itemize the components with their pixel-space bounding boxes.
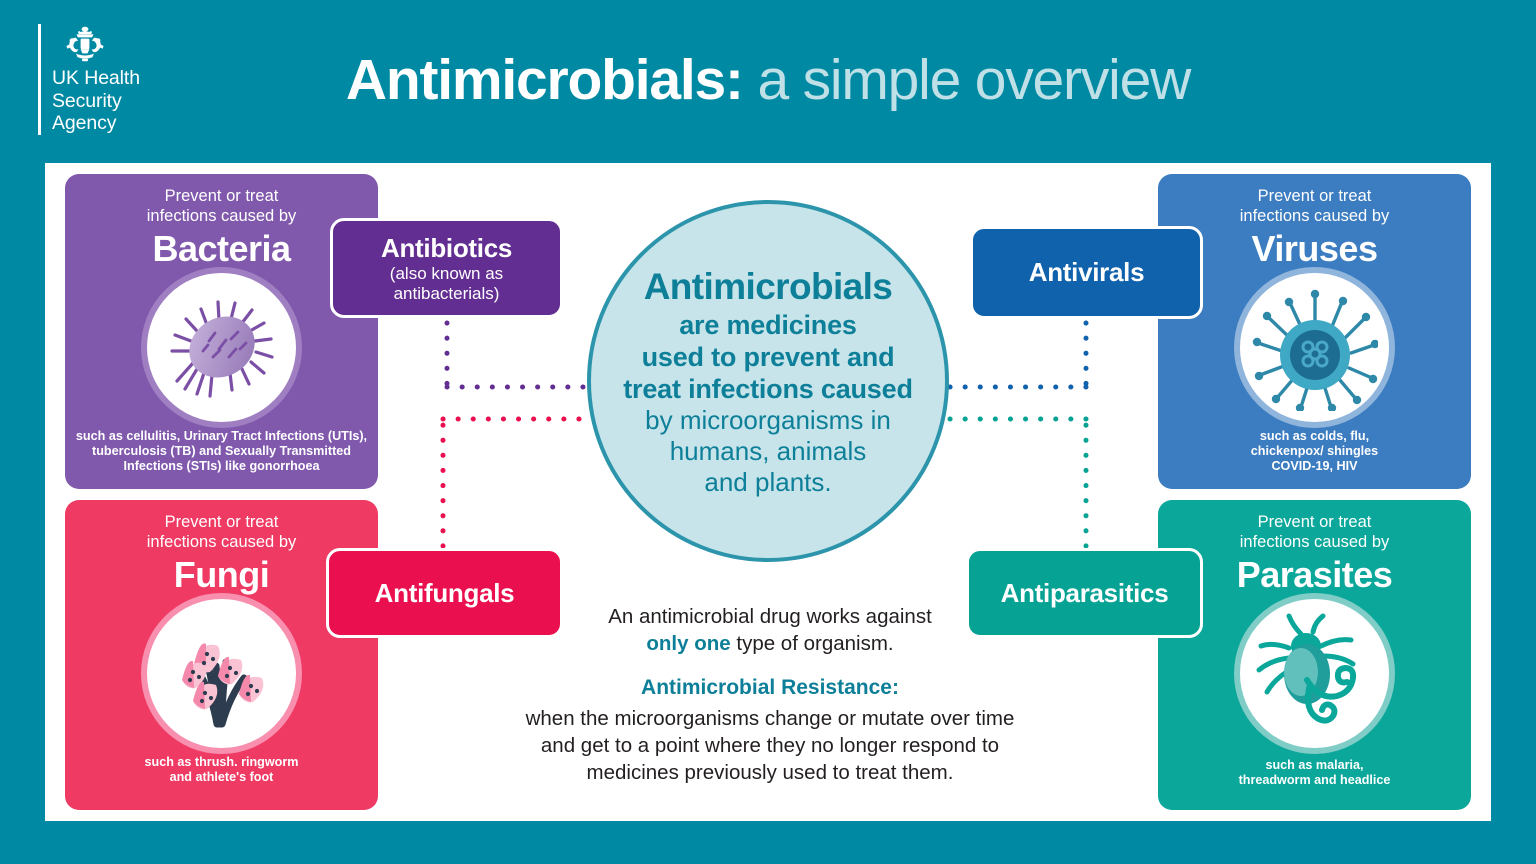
viruses-prefix-line1: Prevent or treat [1158, 187, 1471, 207]
virus-icon [1252, 285, 1378, 411]
bottom-explainer: An antimicrobial drug works against only… [485, 603, 1055, 786]
viruses-note-line3: COVID-19, HIV [1158, 459, 1471, 474]
parasites-prefix-line2: infections caused by [1158, 533, 1471, 553]
viruses-name: Viruses [1158, 228, 1471, 269]
antivirals-title: Antivirals [1029, 257, 1145, 288]
centre-bold-line1: are medicines [679, 309, 857, 341]
bottom-heading-amr: Antimicrobial Resistance: [485, 671, 1055, 705]
bacteria-prefix-line2: infections caused by [65, 207, 378, 227]
panel-parasites[interactable]: Prevent or treat infections caused by Pa… [1158, 500, 1471, 810]
viruses-prefix-line2: infections caused by [1158, 207, 1471, 227]
parasites-icon-circle [1240, 599, 1389, 748]
page-title-main: Antimicrobials: [346, 48, 743, 112]
panel-fungi[interactable]: Prevent or treat infections caused by Fu… [65, 500, 378, 810]
diagram-canvas: Prevent or treat infections caused by Ba… [45, 163, 1491, 821]
centre-regular-line1: by microorganisms in [645, 405, 891, 436]
panel-bacteria[interactable]: Prevent or treat infections caused by Ba… [65, 174, 378, 489]
centre-bold-line2: used to prevent and [642, 341, 895, 373]
viruses-note-line2: chickenpox/ shingles [1158, 444, 1471, 459]
page-header: UK Health Security Agency Antimicrobials… [0, 0, 1536, 163]
centre-bold-line3: treat infections caused [623, 373, 913, 405]
bacteria-icon-circle [147, 273, 296, 422]
bottom-body-line-3: medicines previously used to treat them. [485, 759, 1055, 786]
bacteria-prefix-line1: Prevent or treat [65, 187, 378, 207]
bottom-body-line-1: when the microorganisms change or mutate… [485, 705, 1055, 732]
bottom-line-1: An antimicrobial drug works against [485, 603, 1055, 630]
fungi-prefix-line2: infections caused by [65, 533, 378, 553]
tick-worm-icon [1253, 612, 1377, 736]
bottom-body-line-2: and get to a point where they no longer … [485, 732, 1055, 759]
bottom-line-2: only one type of organism. [485, 630, 1055, 657]
viruses-note-line1: such as colds, flu, [1158, 429, 1471, 444]
fungi-prefix-line1: Prevent or treat [65, 513, 378, 533]
antibiotics-title: Antibiotics [381, 233, 512, 264]
bottom-line-2-rest: type of organism. [731, 632, 894, 655]
mushroom-icon [160, 612, 284, 736]
parasites-prefix-line1: Prevent or treat [1158, 513, 1471, 533]
fungi-icon-circle [147, 599, 296, 748]
bottom-highlight-only-one: only one [646, 632, 730, 655]
fungi-note-line2: and athlete's foot [65, 770, 378, 785]
antibiotics-sub-line2: antibacterials) [394, 284, 500, 304]
centre-circle-antimicrobials[interactable]: Antimicrobials are medicines used to pre… [587, 200, 949, 562]
parasites-name: Parasites [1158, 554, 1471, 595]
page-title: Antimicrobials: a simple overview [0, 46, 1536, 114]
bacteria-note-line3: Infections (STIs) like gonorrhoea [65, 459, 378, 474]
parasites-note-line2: threadworm and headlice [1158, 773, 1471, 788]
page-title-sub: a simple overview [757, 48, 1190, 112]
bacteria-note-line1: such as cellulitis, Urinary Tract Infect… [65, 429, 378, 444]
bacteria-icon [163, 289, 281, 407]
viruses-icon-circle [1240, 273, 1389, 422]
medicine-box-antivirals[interactable]: Antivirals [970, 226, 1203, 319]
logo-line-3: Agency [52, 112, 140, 135]
panel-viruses[interactable]: Prevent or treat infections caused by Vi… [1158, 174, 1471, 489]
fungi-note-line1: such as thrush. ringworm [65, 755, 378, 770]
bacteria-note-line2: tuberculosis (TB) and Sexually Transmitt… [65, 444, 378, 459]
antibiotics-sub-line1: (also known as [390, 264, 503, 284]
centre-title: Antimicrobials [644, 265, 893, 309]
centre-regular-line2: humans, animals [670, 436, 867, 467]
medicine-box-antibiotics[interactable]: Antibiotics (also known as antibacterial… [330, 218, 563, 318]
centre-regular-line3: and plants. [704, 467, 831, 498]
parasites-note-line1: such as malaria, [1158, 758, 1471, 773]
